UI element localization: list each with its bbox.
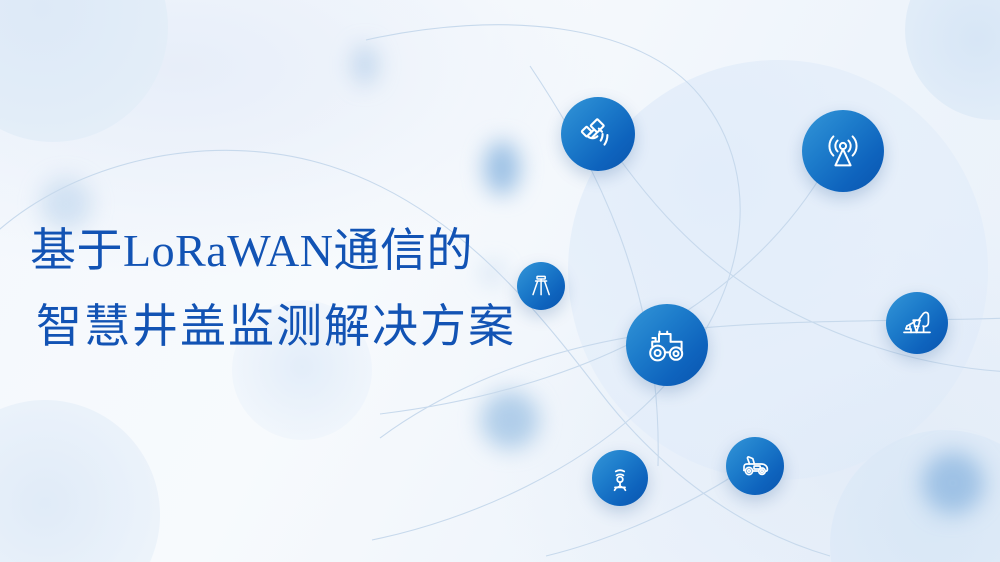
node-oil-pump[interactable]	[886, 292, 948, 354]
title-line-1: 基于LoRaWAN通信的	[30, 228, 570, 274]
tractor-icon	[643, 321, 691, 369]
wireless-sensor-icon	[604, 462, 636, 494]
title-slide: 基于LoRaWAN通信的 智慧井盖监测解决方案	[0, 0, 1000, 562]
oil-pumpjack-icon	[899, 305, 935, 341]
node-wireless-sensor[interactable]	[592, 450, 648, 506]
node-satellite[interactable]	[561, 97, 635, 171]
title-line-2: 智慧井盖监测解决方案	[30, 304, 570, 350]
slide-title: 基于LoRaWAN通信的 智慧井盖监测解决方案	[30, 228, 570, 350]
node-radio-tower[interactable]	[802, 110, 884, 192]
satellite-icon	[578, 114, 618, 154]
radio-tower-icon	[820, 128, 866, 174]
robot-rover-icon	[738, 449, 772, 483]
node-robot-rover[interactable]	[726, 437, 784, 495]
node-tractor[interactable]	[626, 304, 708, 386]
